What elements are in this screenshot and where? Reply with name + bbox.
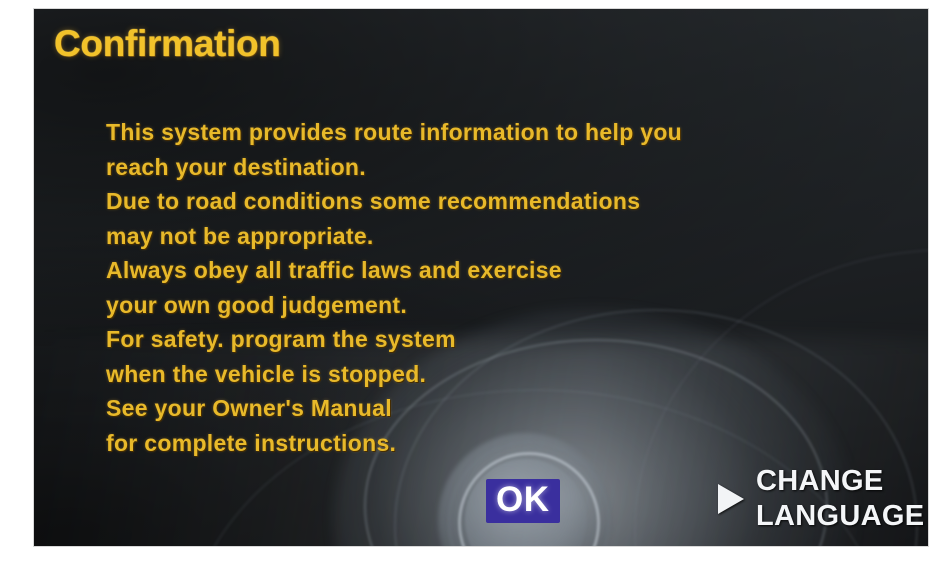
message-line: See your Owner's Manual bbox=[106, 391, 896, 426]
ok-button[interactable]: OK bbox=[486, 479, 560, 523]
play-triangle-right-icon bbox=[718, 484, 744, 514]
navigation-screen-page: Confirmation This system provides route … bbox=[0, 0, 941, 561]
change-language-button[interactable]: CHANGE LANGUAGE bbox=[718, 464, 924, 534]
message-line: your own good judgement. bbox=[106, 288, 896, 323]
change-language-line-1: CHANGE bbox=[756, 464, 924, 499]
change-language-line-2: LANGUAGE bbox=[756, 499, 924, 534]
message-line: This system provides route information t… bbox=[106, 115, 896, 150]
message-line: Due to road conditions some recommendati… bbox=[106, 184, 896, 219]
message-line: reach your destination. bbox=[106, 150, 896, 185]
message-line: for complete instructions. bbox=[106, 426, 896, 461]
change-language-label: CHANGE LANGUAGE bbox=[756, 464, 924, 534]
ok-button-label: OK bbox=[496, 480, 550, 519]
message-line: Always obey all traffic laws and exercis… bbox=[106, 253, 896, 288]
message-line: For safety. program the system bbox=[106, 322, 896, 357]
page-title: Confirmation bbox=[54, 23, 281, 65]
message-line: may not be appropriate. bbox=[106, 219, 896, 254]
nav-unit-display: Confirmation This system provides route … bbox=[34, 9, 928, 546]
confirmation-message: This system provides route information t… bbox=[106, 115, 896, 460]
message-line: when the vehicle is stopped. bbox=[106, 357, 896, 392]
